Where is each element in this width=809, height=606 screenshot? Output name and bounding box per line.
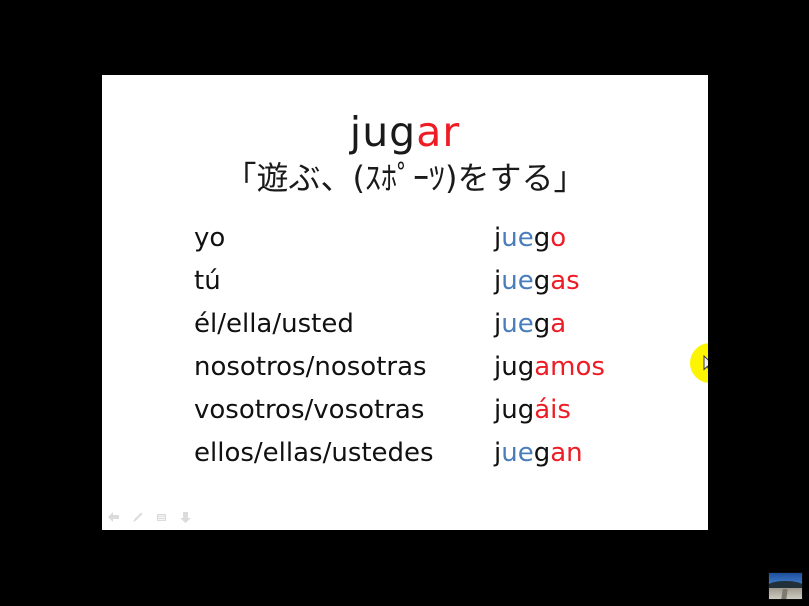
verb-subtitle-japanese: 「遊ぶ、(ｽﾎﾟｰﾂ)をする」: [102, 158, 708, 198]
pen-icon[interactable]: [131, 511, 144, 524]
form-segment: jug: [494, 395, 534, 425]
form-segment: amos: [534, 352, 605, 382]
pronoun-cell: nosotros/nosotras: [194, 352, 494, 382]
arrow-down-icon[interactable]: [179, 511, 192, 524]
table-row: tú juegas: [194, 266, 694, 309]
verb-title-ending: ar: [416, 108, 460, 156]
form-segment: g: [534, 438, 551, 468]
webcam-thumbnail[interactable]: [768, 572, 803, 600]
form-segment: g: [534, 309, 551, 339]
form-segment: as: [550, 266, 579, 296]
verb-form-cell: jugáis: [494, 395, 571, 425]
table-row: él/ella/usted juega: [194, 309, 694, 352]
annotation-toolbar[interactable]: [107, 511, 192, 524]
form-segment: áis: [534, 395, 571, 425]
menu-icon[interactable]: [155, 511, 168, 524]
presentation-slide[interactable]: jugar 「遊ぶ、(ｽﾎﾟｰﾂ)をする」 yo juego tú juegas…: [102, 75, 708, 530]
form-segment: ue: [501, 223, 533, 253]
form-segment: an: [550, 438, 582, 468]
form-segment: ue: [501, 266, 533, 296]
table-row: ellos/ellas/ustedes juegan: [194, 438, 694, 481]
table-row: vosotros/vosotras jugáis: [194, 395, 694, 438]
verb-form-cell: juegan: [494, 438, 583, 468]
table-row: yo juego: [194, 223, 694, 266]
form-segment: g: [534, 223, 551, 253]
form-segment: ue: [501, 309, 533, 339]
form-segment: jug: [494, 352, 534, 382]
verb-title: jugar: [102, 109, 708, 155]
form-segment: g: [534, 266, 551, 296]
conjugation-table: yo juego tú juegas él/ella/usted juega n…: [194, 223, 694, 481]
screen-root: jugar 「遊ぶ、(ｽﾎﾟｰﾂ)をする」 yo juego tú juegas…: [0, 0, 809, 606]
verb-form-cell: juegas: [494, 266, 580, 296]
slide-title-block: jugar 「遊ぶ、(ｽﾎﾟｰﾂ)をする」: [102, 109, 708, 198]
pronoun-cell: tú: [194, 266, 494, 296]
form-segment: o: [550, 223, 566, 253]
pronoun-cell: él/ella/usted: [194, 309, 494, 339]
form-segment: ue: [501, 438, 533, 468]
verb-title-stem: jug: [350, 108, 416, 156]
verb-form-cell: juego: [494, 223, 566, 253]
pronoun-cell: ellos/ellas/ustedes: [194, 438, 494, 468]
mouse-cursor-icon: [703, 355, 708, 373]
verb-form-cell: juega: [494, 309, 566, 339]
pronoun-cell: yo: [194, 223, 494, 253]
pointer-icon[interactable]: [107, 511, 120, 524]
table-row: nosotros/nosotras jugamos: [194, 352, 694, 395]
webcam-road: [781, 589, 788, 599]
verb-form-cell: jugamos: [494, 352, 605, 382]
form-segment: a: [550, 309, 566, 339]
pronoun-cell: vosotros/vosotras: [194, 395, 494, 425]
